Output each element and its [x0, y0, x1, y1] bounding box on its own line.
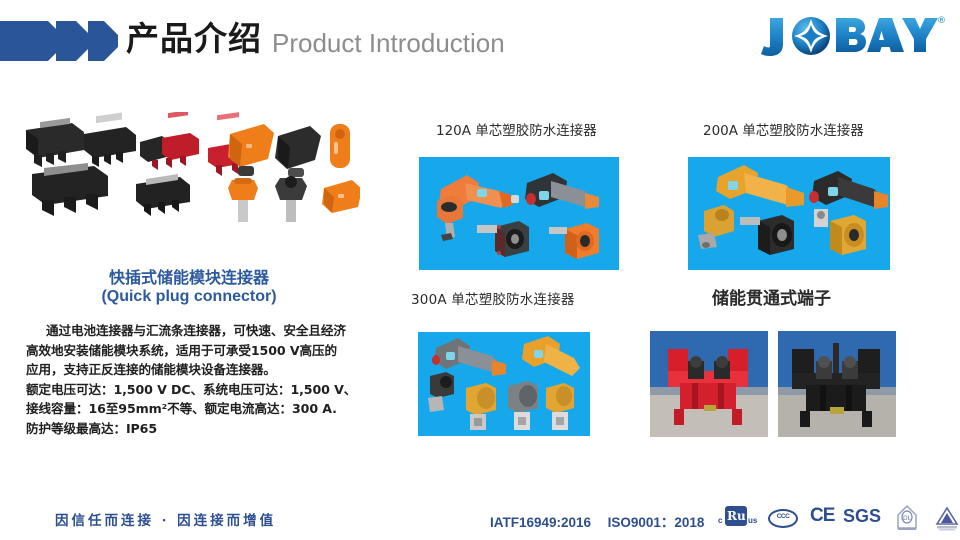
photo-red-busbar-terminal	[650, 331, 768, 437]
body-line-1: 通过电池连接器与汇流条连接器，可快速、安全且经济	[26, 321, 360, 341]
footer-slogan: 因信任而连接 · 因连接而增值	[55, 509, 276, 529]
photo-300a-connectors	[418, 332, 590, 436]
ul-us-suffix-icon: us	[748, 516, 757, 525]
body-line-5: 接线容量：16至95mm²不等、额定电流高达：300 A.	[26, 399, 360, 419]
ccc-mark-icon	[768, 509, 798, 528]
left-heading: 快插式储能模块连接器 (Quick plug connector)	[24, 268, 354, 306]
caption-busbar-terminals: 储能贯通式端子	[712, 284, 831, 309]
body-line-3: 应用，支持正反连接的储能模块设备连接器。	[26, 360, 360, 380]
left-product-photo	[12, 112, 360, 242]
page-title-cn: 产品介绍	[126, 18, 262, 60]
cert-iatf-label: IATF16949:2016	[490, 515, 591, 530]
ce-mark-icon: CE	[810, 505, 834, 527]
body-line-2: 高效地安装储能模块系统，适用于可承受1500 V高压的	[26, 341, 360, 361]
sgs-mark-icon: SGS	[843, 506, 881, 527]
cert-iso-label: ISO9001：2018	[608, 515, 705, 530]
left-heading-en: (Quick plug connector)	[24, 287, 354, 306]
jobay-logo: ®	[754, 10, 946, 62]
caption-120a: 120A 单芯塑胶防水连接器	[436, 119, 597, 139]
slide-root: 产品介绍 Product Introduction	[0, 0, 960, 540]
body-line-6: 防护等级最高达：IP65	[26, 419, 360, 439]
cqc-badge-icon: DL	[894, 504, 920, 532]
caption-300a: 300A 单芯塑胶防水连接器	[411, 288, 575, 308]
chevron-banner-icon	[0, 21, 118, 61]
ul-c-prefix-icon: c	[718, 516, 722, 525]
body-line-4: 额定电压可达：1,500 V DC、系统电压可达：1,500 V、	[26, 380, 360, 400]
svg-text:®: ®	[937, 16, 946, 26]
page-title-en: Product Introduction	[272, 24, 505, 62]
caption-200a: 200A 单芯塑胶防水连接器	[703, 119, 864, 139]
ul-listed-icon	[725, 506, 747, 526]
photo-black-busbar-terminal	[778, 331, 896, 437]
svg-text:DL: DL	[903, 515, 912, 522]
tuv-triangle-icon	[934, 504, 960, 532]
photo-120a-connectors	[419, 157, 619, 270]
slide-header: 产品介绍 Product Introduction	[0, 0, 960, 80]
photo-200a-connectors	[688, 157, 890, 270]
left-heading-cn: 快插式储能模块连接器	[24, 268, 354, 287]
left-body-copy: 通过电池连接器与汇流条连接器，可快速、安全且经济 高效地安装储能模块系统，适用于…	[26, 321, 360, 438]
footer-cert-text: IATF16949:2016 ISO9001：2018	[490, 511, 704, 531]
